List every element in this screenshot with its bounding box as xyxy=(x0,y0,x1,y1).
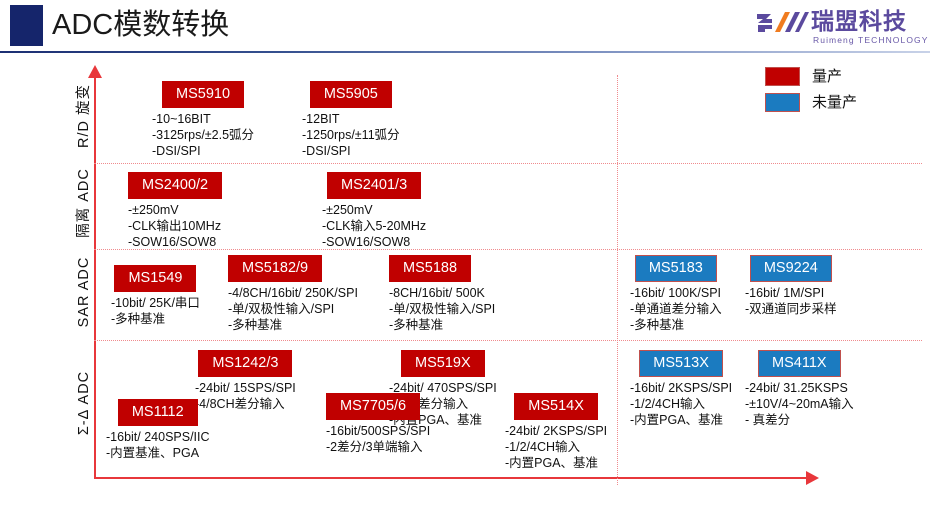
spec-line: -16bit/500SPS/SPI xyxy=(326,423,430,439)
spec-line: -多种基准 xyxy=(111,311,200,327)
row-divider-3 xyxy=(94,340,922,341)
spec-line: -多种基准 xyxy=(630,317,722,333)
product-specs-ms1549: -10bit/ 25K/串口 -多种基准 xyxy=(111,295,200,327)
product-card-ms411x[interactable]: MS411X -24bit/ 31.25KSPS -±10V/4~20mA输入 … xyxy=(745,350,854,428)
product-specs-ms5905: -12BIT -1250rps/±11弧分 -DSI/SPI xyxy=(302,111,400,159)
product-card-ms2401-3[interactable]: MS2401/3 -±250mV -CLK输入5-20MHz -SOW16/SO… xyxy=(322,172,426,250)
product-name-ms1112: MS1112 xyxy=(118,399,198,426)
product-name-ms9224: MS9224 xyxy=(750,255,832,282)
product-card-ms1112[interactable]: MS1112 -16bit/ 240SPS/IIC -内置基准、PGA xyxy=(106,399,210,461)
spec-line: -24bit/ 15SPS/SPI xyxy=(195,380,296,396)
product-name-ms513x: MS513X xyxy=(639,350,723,377)
spec-line: -SOW16/SOW8 xyxy=(322,234,426,250)
product-card-ms9224[interactable]: MS9224 -16bit/ 1M/SPI -双通道同步采样 xyxy=(745,255,837,317)
row-label-sar-adc: SAR ADC xyxy=(76,246,92,338)
spec-line: -24bit/ 31.25KSPS xyxy=(745,380,854,396)
spec-line: -内置PGA、基准 xyxy=(505,455,607,471)
spec-line: -DSI/SPI xyxy=(152,143,254,159)
spec-line: -CLK输入5-20MHz xyxy=(322,218,426,234)
row-divider-1 xyxy=(94,163,922,164)
spec-line: -16bit/ 100K/SPI xyxy=(630,285,722,301)
product-name-ms411x: MS411X xyxy=(758,350,841,377)
product-card-ms514x[interactable]: MS514X -24bit/ 2KSPS/SPI -1/2/4CH输入 -内置P… xyxy=(505,393,607,471)
spec-line: -1250rps/±11弧分 xyxy=(302,127,400,143)
legend-label-not-mass-production: 未量产 xyxy=(812,94,857,111)
product-name-ms1549: MS1549 xyxy=(114,265,196,292)
product-name-ms5188: MS5188 xyxy=(389,255,471,282)
status-column-divider xyxy=(617,75,618,485)
product-name-ms5910: MS5910 xyxy=(162,81,244,108)
product-specs-ms411x: -24bit/ 31.25KSPS -±10V/4~20mA输入 - 真差分 xyxy=(745,380,854,428)
spec-line: - 真差分 xyxy=(745,412,854,428)
product-card-ms5188[interactable]: MS5188 -8CH/16bit/ 500K -单/双极性输入/SPI -多种… xyxy=(389,255,495,333)
product-name-ms5182-9: MS5182/9 xyxy=(228,255,322,282)
spec-line: -2差分/3单端输入 xyxy=(326,439,430,455)
adc-product-matrix: R/D 旋变 隔离 ADC SAR ADC Σ-Δ ADC 量产 未量产 MS5… xyxy=(0,53,930,509)
product-specs-ms2401-3: -±250mV -CLK输入5-20MHz -SOW16/SOW8 xyxy=(322,202,426,250)
spec-line: -1/2/4CH输入 xyxy=(505,439,607,455)
spec-line: -10~16BIT xyxy=(152,111,254,127)
product-card-ms5183[interactable]: MS5183 -16bit/ 100K/SPI -单通道差分输入 -多种基准 xyxy=(630,255,722,333)
product-card-ms7705-6[interactable]: MS7705/6 -16bit/500SPS/SPI -2差分/3单端输入 xyxy=(326,393,430,455)
x-axis-line xyxy=(94,477,810,479)
product-card-ms5182-9[interactable]: MS5182/9 -4/8CH/16bit/ 250K/SPI -单/双极性输入… xyxy=(228,255,358,333)
spec-line: -内置PGA、基准 xyxy=(630,412,732,428)
row-label-sigma-delta-adc: Σ-Δ ADC xyxy=(76,343,92,463)
spec-line: -3125rps/±2.5弧分 xyxy=(152,127,254,143)
legend-swatch-blue xyxy=(765,93,800,112)
product-name-ms5183: MS5183 xyxy=(635,255,717,282)
product-specs-ms513x: -16bit/ 2KSPS/SPI -1/2/4CH输入 -内置PGA、基准 xyxy=(630,380,732,428)
row-label-isolated-adc: 隔离 ADC xyxy=(76,159,92,247)
spec-line: -双通道同步采样 xyxy=(745,301,837,317)
product-specs-ms5183: -16bit/ 100K/SPI -单通道差分输入 -多种基准 xyxy=(630,285,722,333)
product-name-ms2400-2: MS2400/2 xyxy=(128,172,222,199)
y-axis-line xyxy=(94,75,96,479)
spec-line: -24bit/ 2KSPS/SPI xyxy=(505,423,607,439)
product-card-ms2400-2[interactable]: MS2400/2 -±250mV -CLK输出10MHz -SOW16/SOW8 xyxy=(128,172,222,250)
spec-line: -SOW16/SOW8 xyxy=(128,234,222,250)
legend-swatch-red xyxy=(765,67,800,86)
spec-line: -16bit/ 240SPS/IIC xyxy=(106,429,210,445)
product-card-ms5910[interactable]: MS5910 -10~16BIT -3125rps/±2.5弧分 -DSI/SP… xyxy=(152,81,254,159)
spec-line: -8CH/16bit/ 500K xyxy=(389,285,495,301)
x-axis-right-arrow-icon xyxy=(806,471,819,485)
spec-line: -单/双极性输入/SPI xyxy=(228,301,358,317)
spec-line: -CLK输出10MHz xyxy=(128,218,222,234)
legend: 量产 未量产 xyxy=(765,67,915,119)
product-specs-ms5910: -10~16BIT -3125rps/±2.5弧分 -DSI/SPI xyxy=(152,111,254,159)
product-card-ms1549[interactable]: MS1549 -10bit/ 25K/串口 -多种基准 xyxy=(111,265,200,327)
logo-english-name: Ruimeng TECHNOLOGY xyxy=(813,35,929,45)
page-title: ADC模数转换 xyxy=(52,6,229,44)
product-specs-ms5182-9: -4/8CH/16bit/ 250K/SPI -单/双极性输入/SPI -多种基… xyxy=(228,285,358,333)
spec-line: -16bit/ 2KSPS/SPI xyxy=(630,380,732,396)
spec-line: -DSI/SPI xyxy=(302,143,400,159)
product-specs-ms7705-6: -16bit/500SPS/SPI -2差分/3单端输入 xyxy=(326,423,430,455)
company-logo: 瑞盟科技 Ruimeng TECHNOLOGY xyxy=(755,8,920,48)
spec-line: -10bit/ 25K/串口 xyxy=(111,295,200,311)
spec-line: -1/2/4CH输入 xyxy=(630,396,732,412)
product-specs-ms1112: -16bit/ 240SPS/IIC -内置基准、PGA xyxy=(106,429,210,461)
spec-line: -±10V/4~20mA输入 xyxy=(745,396,854,412)
product-card-ms513x[interactable]: MS513X -16bit/ 2KSPS/SPI -1/2/4CH输入 -内置P… xyxy=(630,350,732,428)
spec-line: -12BIT xyxy=(302,111,400,127)
header-accent-bar xyxy=(10,5,43,46)
spec-line: -16bit/ 1M/SPI xyxy=(745,285,837,301)
product-specs-ms1242-3: -24bit/ 15SPS/SPI -4/8CH差分输入 xyxy=(195,380,296,412)
product-specs-ms9224: -16bit/ 1M/SPI -双通道同步采样 xyxy=(745,285,837,317)
legend-item-mass-production: 量产 xyxy=(765,67,915,86)
product-specs-ms5188: -8CH/16bit/ 500K -单/双极性输入/SPI -多种基准 xyxy=(389,285,495,333)
spec-line: -单/双极性输入/SPI xyxy=(389,301,495,317)
product-name-ms7705-6: MS7705/6 xyxy=(326,393,420,420)
legend-item-not-mass-production: 未量产 xyxy=(765,93,915,112)
spec-line: -内置基准、PGA xyxy=(106,445,210,461)
product-card-ms5905[interactable]: MS5905 -12BIT -1250rps/±11弧分 -DSI/SPI xyxy=(302,81,400,159)
spec-line: -4/8CH/16bit/ 250K/SPI xyxy=(228,285,358,301)
ruimeng-logomark-icon xyxy=(755,10,810,36)
spec-line: -多种基准 xyxy=(228,317,358,333)
row-label-rd-resolver: R/D 旋变 xyxy=(76,71,92,161)
product-specs-ms2400-2: -±250mV -CLK输出10MHz -SOW16/SOW8 xyxy=(128,202,222,250)
product-name-ms5905: MS5905 xyxy=(310,81,392,108)
product-name-ms2401-3: MS2401/3 xyxy=(327,172,421,199)
product-specs-ms514x: -24bit/ 2KSPS/SPI -1/2/4CH输入 -内置PGA、基准 xyxy=(505,423,607,471)
spec-line: -4/8CH差分输入 xyxy=(195,396,296,412)
spec-line: -±250mV xyxy=(322,202,426,218)
product-name-ms514x: MS514X xyxy=(514,393,598,420)
logo-chinese-name: 瑞盟科技 xyxy=(811,8,907,35)
product-name-ms1242-3: MS1242/3 xyxy=(198,350,292,377)
product-card-ms1242-3[interactable]: MS1242/3 -24bit/ 15SPS/SPI -4/8CH差分输入 xyxy=(195,350,296,412)
product-name-ms519x: MS519X xyxy=(401,350,485,377)
legend-label-mass-production: 量产 xyxy=(812,68,842,85)
spec-line: -±250mV xyxy=(128,202,222,218)
spec-line: -多种基准 xyxy=(389,317,495,333)
spec-line: -单通道差分输入 xyxy=(630,301,722,317)
